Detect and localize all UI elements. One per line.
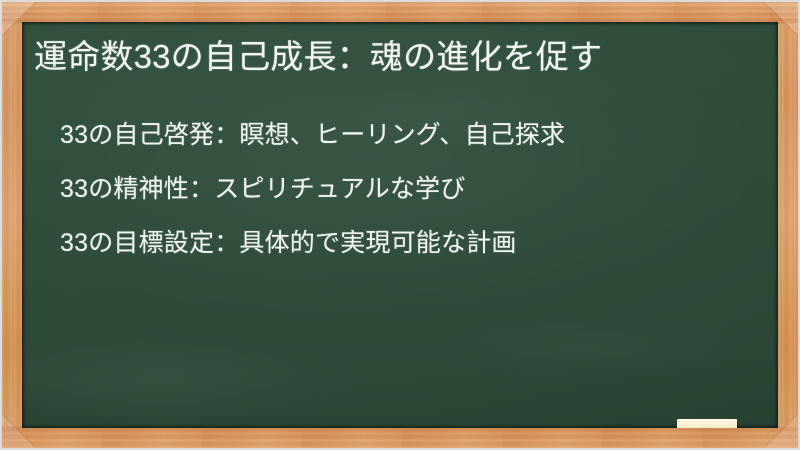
list-item: 33の精神性：スピリチュアルな学び — [60, 162, 760, 216]
chalkboard-content: 運命数33の自己成長：魂の進化を促す 33の自己啓発：瞑想、ヒーリング、自己探求… — [22, 22, 778, 428]
list-item: 33の目標設定：具体的で実現可能な計画 — [60, 216, 760, 270]
chalkboard-surface: 運命数33の自己成長：魂の進化を促す 33の自己啓発：瞑想、ヒーリング、自己探求… — [22, 22, 778, 428]
chalk-stick-icon — [677, 419, 737, 428]
list-item: 33の自己啓発：瞑想、ヒーリング、自己探求 — [60, 108, 760, 162]
frame-rail-bottom — [2, 426, 798, 448]
frame-rail-top — [2, 2, 798, 24]
slide-title: 運命数33の自己成長：魂の進化を促す — [34, 32, 774, 82]
wooden-frame: 運命数33の自己成長：魂の進化を促す 33の自己啓発：瞑想、ヒーリング、自己探求… — [2, 2, 798, 448]
bullet-list: 33の自己啓発：瞑想、ヒーリング、自己探求 33の精神性：スピリチュアルな学び … — [60, 108, 760, 270]
chalkboard-slide: 運命数33の自己成長：魂の進化を促す 33の自己啓発：瞑想、ヒーリング、自己探求… — [0, 0, 800, 450]
